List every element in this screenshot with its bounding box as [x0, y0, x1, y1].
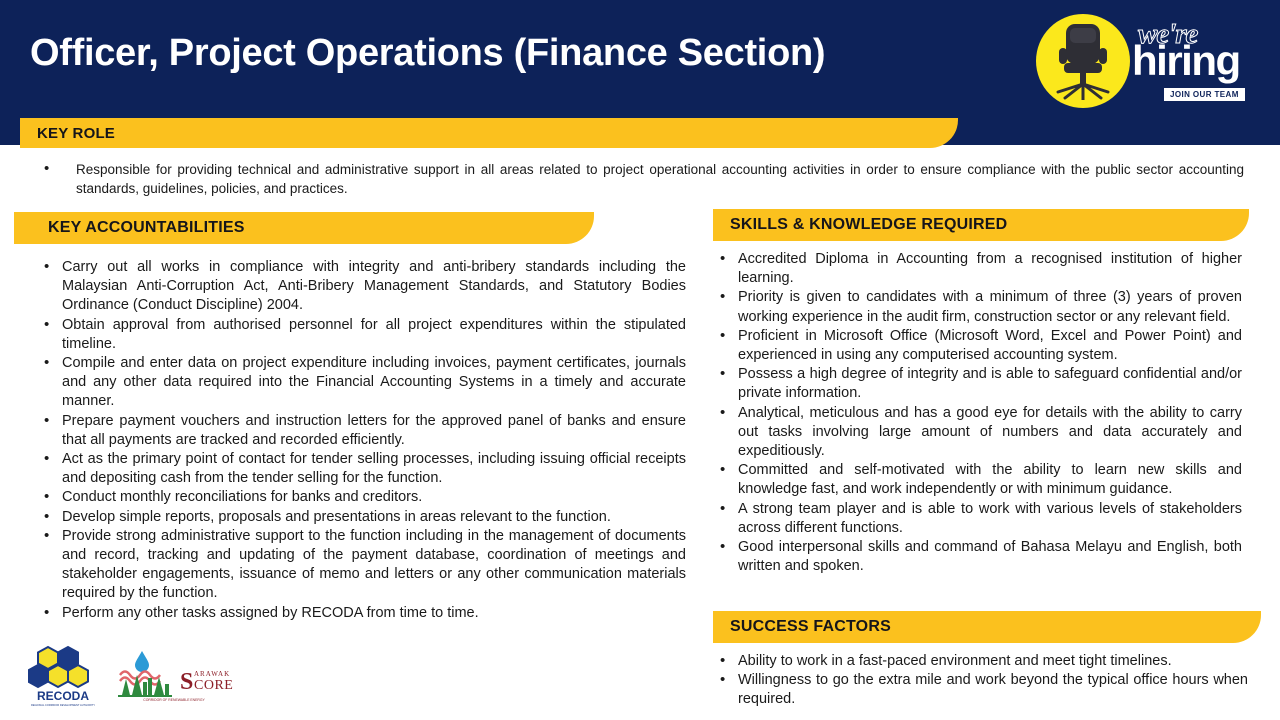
- section-banner-success-factors: SUCCESS FACTORS: [713, 611, 1261, 643]
- sarawak-score-logo: S ARAWAK CORE CORRIDOR OF RENEWABLE ENER…: [108, 649, 240, 707]
- list-item: Compile and enter data on project expend…: [38, 354, 686, 412]
- footer-logos: RECODA REGIONAL CORRIDOR DEVELOPMENT AUT…: [24, 645, 244, 713]
- section-title-skills-knowledge: SKILLS & KNOWLEDGE REQUIRED: [730, 216, 1007, 234]
- join-our-team-badge: JOIN OUR TEAM: [1164, 88, 1245, 101]
- list-item: Conduct monthly reconciliations for bank…: [38, 488, 686, 507]
- logo-wordmark: we're hiring JOIN OUR TEAM: [1132, 18, 1268, 110]
- list-item: Analytical, meticulous and has a good ey…: [714, 404, 1242, 462]
- list-item: Priority is given to candidates with a m…: [714, 288, 1242, 326]
- section-title-key-role: KEY ROLE: [37, 125, 115, 142]
- section-title-key-accountabilities: KEY ACCOUNTABILITIES: [48, 219, 245, 237]
- list-item: Provide strong administrative support to…: [38, 527, 686, 604]
- key-accountabilities-list: Carry out all works in compliance with i…: [38, 258, 686, 623]
- list-item: Perform any other tasks assigned by RECO…: [38, 604, 686, 623]
- key-role-list: Responsible for providing technical and …: [34, 160, 1244, 198]
- score-logo-core: CORE: [194, 678, 233, 693]
- section-banner-skills-knowledge: SKILLS & KNOWLEDGE REQUIRED: [713, 209, 1249, 241]
- score-logo-sarawak: ARAWAK: [194, 670, 230, 678]
- skills-knowledge-list: Accredited Diploma in Accounting from a …: [714, 250, 1242, 576]
- list-item: Possess a high degree of integrity and i…: [714, 365, 1242, 403]
- list-item: A strong team player and is able to work…: [714, 500, 1242, 538]
- list-item: Ability to work in a fast-paced environm…: [714, 652, 1248, 671]
- office-chair-icon: [1050, 22, 1116, 100]
- list-item: Obtain approval from authorised personne…: [38, 316, 686, 354]
- were-hiring-logo: we're hiring JOIN OUR TEAM: [1036, 12, 1268, 110]
- list-item: Good interpersonal skills and command of…: [714, 538, 1242, 576]
- section-banner-key-accountabilities: KEY ACCOUNTABILITIES: [14, 212, 594, 244]
- list-item: Act as the primary point of contact for …: [38, 450, 686, 488]
- list-item: Willingness to go the extra mile and wor…: [714, 671, 1248, 709]
- recoda-logo: RECODA REGIONAL CORRIDOR DEVELOPMENT AUT…: [28, 645, 98, 709]
- list-item: Proficient in Microsoft Office (Microsof…: [714, 327, 1242, 365]
- page-title: Officer, Project Operations (Finance Sec…: [30, 32, 825, 75]
- score-logo-s: S: [180, 669, 193, 695]
- list-item: Carry out all works in compliance with i…: [38, 258, 686, 316]
- list-item: Accredited Diploma in Accounting from a …: [714, 250, 1242, 288]
- list-item: Develop simple reports, proposals and pr…: [38, 508, 686, 527]
- recoda-logo-subtitle: REGIONAL CORRIDOR DEVELOPMENT AUTHORITY: [31, 703, 95, 707]
- list-item: Prepare payment vouchers and instruction…: [38, 412, 686, 450]
- logo-hiring-text: hiring: [1132, 40, 1240, 82]
- list-item: Responsible for providing technical and …: [34, 160, 1244, 198]
- score-logo-subtitle: CORRIDOR OF RENEWABLE ENERGY: [143, 698, 205, 702]
- recoda-logo-text: RECODA: [37, 689, 89, 703]
- section-banner-key-role: KEY ROLE: [20, 118, 958, 148]
- section-title-success-factors: SUCCESS FACTORS: [730, 618, 891, 636]
- list-item: Committed and self-motivated with the ab…: [714, 461, 1242, 499]
- success-factors-list: Ability to work in a fast-paced environm…: [714, 652, 1248, 710]
